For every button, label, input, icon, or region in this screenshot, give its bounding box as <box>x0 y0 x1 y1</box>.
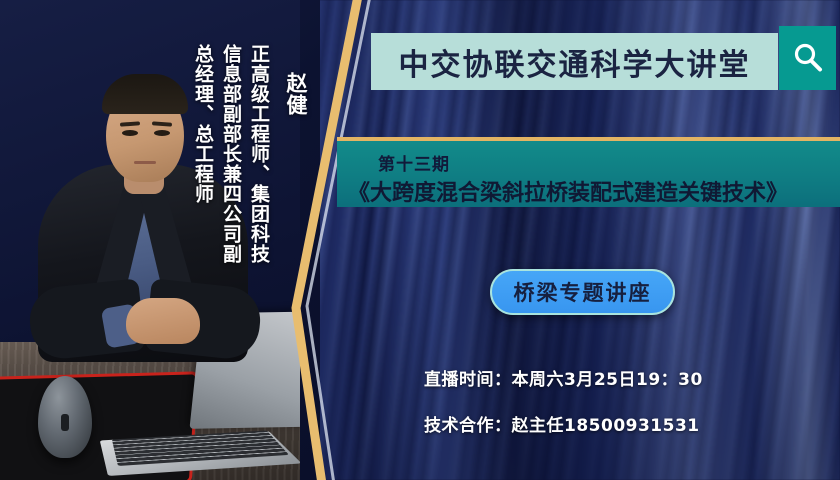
live-time-line: 直播时间：本周六3月25日19：30 <box>424 365 824 390</box>
speaker-title-column-2: 信息部副部长兼四公司副 <box>218 44 245 264</box>
clasped-hands <box>126 298 200 344</box>
speaker-name: 赵健 <box>281 72 311 116</box>
contact-line: 技术合作：赵主任18500931531 <box>424 411 824 436</box>
search-icon <box>791 41 825 75</box>
eye-left <box>122 130 138 136</box>
topic-title: 《大跨度混合梁斜拉桥装配式建造关键技术》 <box>348 175 788 207</box>
subtitle-band: 第十三期 《大跨度混合梁斜拉桥装配式建造关键技术》 <box>337 137 840 207</box>
category-badge-label: 桥梁专题讲座 <box>514 277 652 307</box>
search-button[interactable] <box>779 26 836 90</box>
title-banner: 中交协联交通科学大讲堂 <box>371 33 778 90</box>
webinar-poster: 中交协联交通科学大讲堂 第十三期 《大跨度混合梁斜拉桥装配式建造关键技术》 桥梁… <box>0 0 840 480</box>
mouth <box>134 161 156 164</box>
broadcast-info: 直播时间：本周六3月25日19：30 技术合作：赵主任18500931531 <box>424 365 824 457</box>
category-badge[interactable]: 桥梁专题讲座 <box>490 269 675 315</box>
speaker-title-column-3: 总经理、总工程师 <box>190 44 217 204</box>
page-title: 中交协联交通科学大讲堂 <box>399 40 751 84</box>
speaker-title-column-1: 正高级工程师、集团科技 <box>246 44 273 264</box>
hair <box>102 74 188 114</box>
episode-label: 第十三期 <box>378 150 450 175</box>
eye-right <box>154 130 170 136</box>
